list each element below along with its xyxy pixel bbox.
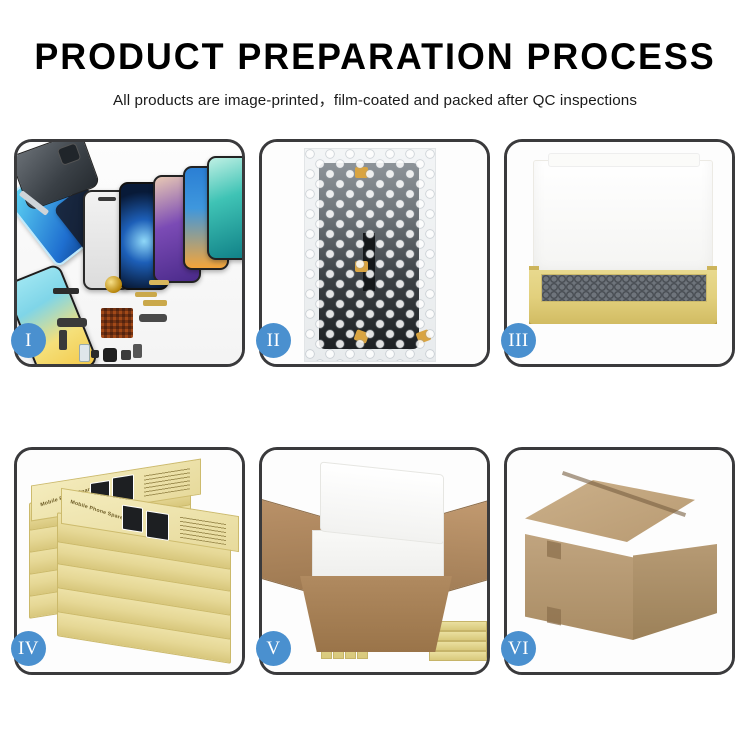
step-badge-1: I <box>11 323 46 358</box>
step-badge-5: V <box>256 631 291 666</box>
connector-part-3 <box>149 280 169 285</box>
foam-lid-open <box>320 461 444 544</box>
process-step-panel-2: II <box>259 139 490 367</box>
page-title: PRODUCT PREPARATION PROCESS <box>11 38 739 77</box>
flex-cable-part-2 <box>59 330 67 350</box>
flex-cable-part-4 <box>143 300 167 306</box>
box-art-textlines-front <box>180 516 226 545</box>
packed-box-7 <box>429 641 487 651</box>
flex-cable-part-3 <box>139 314 167 322</box>
step-3-image <box>507 142 732 364</box>
carton-side-face <box>633 544 717 640</box>
yellow-inner-box <box>529 270 717 324</box>
box-art-screen-4 <box>146 510 169 541</box>
page-subtitle: All products are image-printed，film-coat… <box>0 88 750 110</box>
flex-cable-part-1 <box>57 318 87 327</box>
process-step-panel-6: VI <box>504 447 735 675</box>
process-step-panel-4: Mobile Phone Spare Parts Mobile Phone Sp… <box>14 447 245 675</box>
bubble-wrapped-contents <box>541 274 707 302</box>
speaker-coil-part <box>105 276 122 293</box>
small-part-2 <box>91 350 99 358</box>
header: PRODUCT PREPARATION PROCESS All products… <box>0 0 750 110</box>
step-6-image <box>507 450 732 672</box>
step-badge-2: II <box>256 323 291 358</box>
connector-part-2 <box>135 292 157 297</box>
step-4-image: Mobile Phone Spare Parts Mobile Phone Sp… <box>17 450 242 672</box>
foam-lid <box>533 160 713 280</box>
process-step-panel-5: V <box>259 447 490 675</box>
camera-module-part <box>103 348 117 362</box>
carton-front-panel <box>300 576 452 652</box>
step-5-image <box>262 450 487 672</box>
process-step-grid: I II <box>14 139 736 675</box>
small-part-3 <box>121 350 131 360</box>
bubble-wrap-bag <box>304 148 436 362</box>
packed-box-8 <box>429 651 487 661</box>
chip-grid-part <box>101 308 133 338</box>
step-badge-6: VI <box>501 631 536 666</box>
connector-part-1 <box>53 288 79 294</box>
process-step-panel-1: I <box>14 139 245 367</box>
step-badge-4: IV <box>11 631 46 666</box>
product-preparation-infographic: PRODUCT PREPARATION PROCESS All products… <box>0 0 750 750</box>
carton-front-face <box>525 534 633 640</box>
small-part-1 <box>79 344 90 362</box>
box-art-textlines-back <box>144 467 190 496</box>
step-badge-3: III <box>501 323 536 358</box>
step-1-image <box>17 142 242 364</box>
small-part-4 <box>133 344 142 358</box>
carton-tape-2 <box>547 607 561 626</box>
bubble-texture <box>305 149 435 361</box>
step-2-image <box>262 142 487 364</box>
box-art-screen-3 <box>122 505 143 533</box>
process-step-panel-3: III <box>504 139 735 367</box>
phone-teal <box>207 156 242 260</box>
carton-tape-1 <box>547 541 561 560</box>
